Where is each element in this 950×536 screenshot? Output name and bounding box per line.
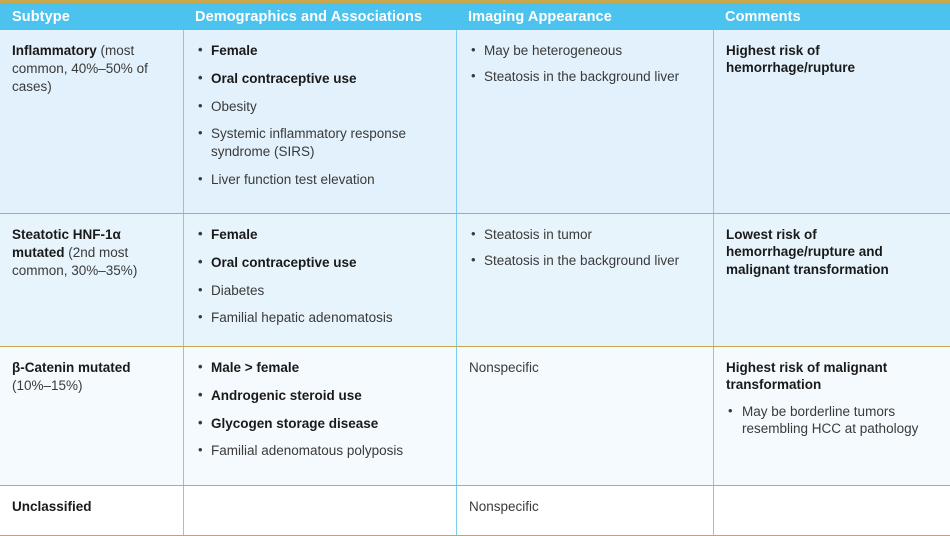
column-header-comments: Comments bbox=[713, 9, 950, 25]
table-row: β-Catenin mutated (10%–15%) Male > femal… bbox=[0, 347, 950, 486]
table-header-row: Subtype Demographics and Associations Im… bbox=[0, 3, 950, 30]
imaging-list: Steatosis in tumor Steatosis in the back… bbox=[469, 226, 703, 270]
comments-highlight: Lowest risk of hemorrhage/rupture and ma… bbox=[726, 226, 940, 278]
subtype-title: β-Catenin mutated bbox=[12, 360, 131, 375]
column-header-imaging-appearance: Imaging Appearance bbox=[456, 9, 713, 25]
list-item: Female bbox=[196, 226, 446, 244]
list-item: Steatosis in the background liver bbox=[469, 68, 703, 86]
subtype-title: Unclassified bbox=[12, 499, 92, 514]
cell-subtype: Steatotic HNF-1α mutated (2nd most commo… bbox=[0, 214, 183, 346]
table-row: Inflammatory (most common, 40%–50% of ca… bbox=[0, 30, 950, 214]
imaging-list: May be heterogeneous Steatosis in the ba… bbox=[469, 42, 703, 86]
demographics-list: Male > female Androgenic steroid use Gly… bbox=[196, 359, 446, 460]
list-item: Steatosis in the background liver bbox=[469, 252, 703, 270]
list-item: Familial adenomatous polyposis bbox=[196, 442, 446, 460]
cell-imaging-appearance: Nonspecific bbox=[456, 347, 713, 485]
list-item: May be heterogeneous bbox=[469, 42, 703, 60]
list-item: Steatosis in tumor bbox=[469, 226, 703, 244]
cell-imaging-appearance: Nonspecific bbox=[456, 486, 713, 535]
imaging-text: Nonspecific bbox=[469, 498, 703, 516]
comments-highlight: Highest risk of malignant transformation bbox=[726, 359, 940, 394]
column-header-demographics: Demographics and Associations bbox=[183, 9, 456, 25]
subtype-title: Inflammatory bbox=[12, 43, 97, 58]
cell-subtype: β-Catenin mutated (10%–15%) bbox=[0, 347, 183, 485]
list-item: Oral contraceptive use bbox=[196, 254, 446, 272]
column-header-subtype: Subtype bbox=[0, 9, 183, 25]
list-item: Female bbox=[196, 42, 446, 60]
cell-demographics: Male > female Androgenic steroid use Gly… bbox=[183, 347, 456, 485]
list-item: May be borderline tumors resembling HCC … bbox=[726, 403, 940, 439]
cell-demographics bbox=[183, 486, 456, 535]
cell-imaging-appearance: May be heterogeneous Steatosis in the ba… bbox=[456, 30, 713, 213]
subtype-comparison-table: Subtype Demographics and Associations Im… bbox=[0, 0, 950, 536]
list-item: Familial hepatic adenomatosis bbox=[196, 309, 446, 327]
list-item: Male > female bbox=[196, 359, 446, 377]
cell-comments: Lowest risk of hemorrhage/rupture and ma… bbox=[713, 214, 950, 346]
table-row: Steatotic HNF-1α mutated (2nd most commo… bbox=[0, 214, 950, 347]
demographics-list: Female Oral contraceptive use Obesity Sy… bbox=[196, 42, 446, 189]
cell-demographics: Female Oral contraceptive use Obesity Sy… bbox=[183, 30, 456, 213]
imaging-text: Nonspecific bbox=[469, 359, 703, 377]
cell-comments: Highest risk of malignant transformation… bbox=[713, 347, 950, 485]
list-item: Obesity bbox=[196, 98, 446, 116]
list-item: Liver function test elevation bbox=[196, 171, 446, 189]
demographics-list: Female Oral contraceptive use Diabetes F… bbox=[196, 226, 446, 327]
list-item: Diabetes bbox=[196, 282, 446, 300]
cell-demographics: Female Oral contraceptive use Diabetes F… bbox=[183, 214, 456, 346]
list-item: Glycogen storage disease bbox=[196, 415, 446, 433]
cell-subtype: Unclassified bbox=[0, 486, 183, 535]
comments-list: May be borderline tumors resembling HCC … bbox=[726, 403, 940, 439]
cell-imaging-appearance: Steatosis in tumor Steatosis in the back… bbox=[456, 214, 713, 346]
subtype-note: (10%–15%) bbox=[12, 378, 83, 393]
cell-comments: Highest risk of hemorrhage/rupture bbox=[713, 30, 950, 213]
cell-subtype: Inflammatory (most common, 40%–50% of ca… bbox=[0, 30, 183, 213]
list-item: Oral contraceptive use bbox=[196, 70, 446, 88]
comments-highlight: Highest risk of hemorrhage/rupture bbox=[726, 42, 940, 77]
list-item: Systemic inflammatory response syndrome … bbox=[196, 125, 446, 161]
cell-comments bbox=[713, 486, 950, 535]
table-row: Unclassified Nonspecific bbox=[0, 486, 950, 536]
list-item: Androgenic steroid use bbox=[196, 387, 446, 405]
